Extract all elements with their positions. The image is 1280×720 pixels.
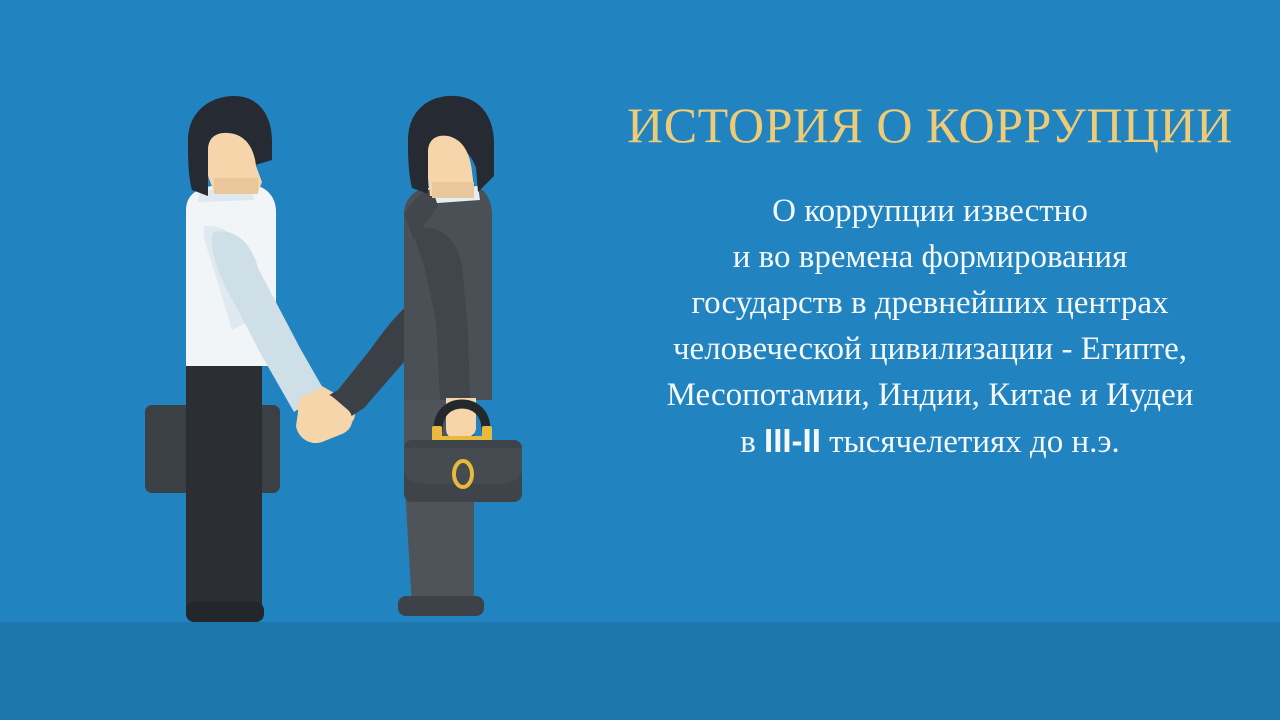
left-shoe: [186, 602, 264, 622]
body-line-6-after: тысячелетиях до н.э.: [821, 424, 1120, 460]
body-paragraph: О коррупции известно и во времена формир…: [590, 188, 1270, 465]
body-line-6-before: в: [740, 424, 764, 460]
text-column: ИСТОРИЯ О КОРРУПЦИИ О коррупции известно…: [590, 96, 1270, 465]
body-line-3: государств в древнейших центрах: [590, 280, 1270, 326]
briefcase-flap: [404, 448, 522, 484]
left-neck: [214, 178, 258, 194]
left-trousers-block: [186, 360, 262, 612]
page-title: ИСТОРИЯ О КОРРУПЦИИ: [590, 96, 1270, 154]
left-figure-businessman-white-shirt: [145, 96, 355, 622]
body-line-6-roman-numeral: III-II: [764, 422, 821, 459]
handshake-illustration: [0, 0, 600, 720]
right-figure-businessman-gray-suit: [296, 96, 522, 616]
body-line-1: О коррупции известно: [590, 188, 1270, 234]
body-line-2: и во времена формирования: [590, 234, 1270, 280]
body-line-6: в III-II тысячелетиях до н.э.: [590, 418, 1270, 465]
right-shoe: [398, 596, 484, 616]
body-line-5: Месопотамии, Индии, Китае и Иудеи: [590, 372, 1270, 418]
right-neck: [432, 182, 474, 198]
body-line-4: человеческой цивилизации - Египте,: [590, 326, 1270, 372]
slide-root: ИСТОРИЯ О КОРРУПЦИИ О коррупции известно…: [0, 0, 1280, 720]
